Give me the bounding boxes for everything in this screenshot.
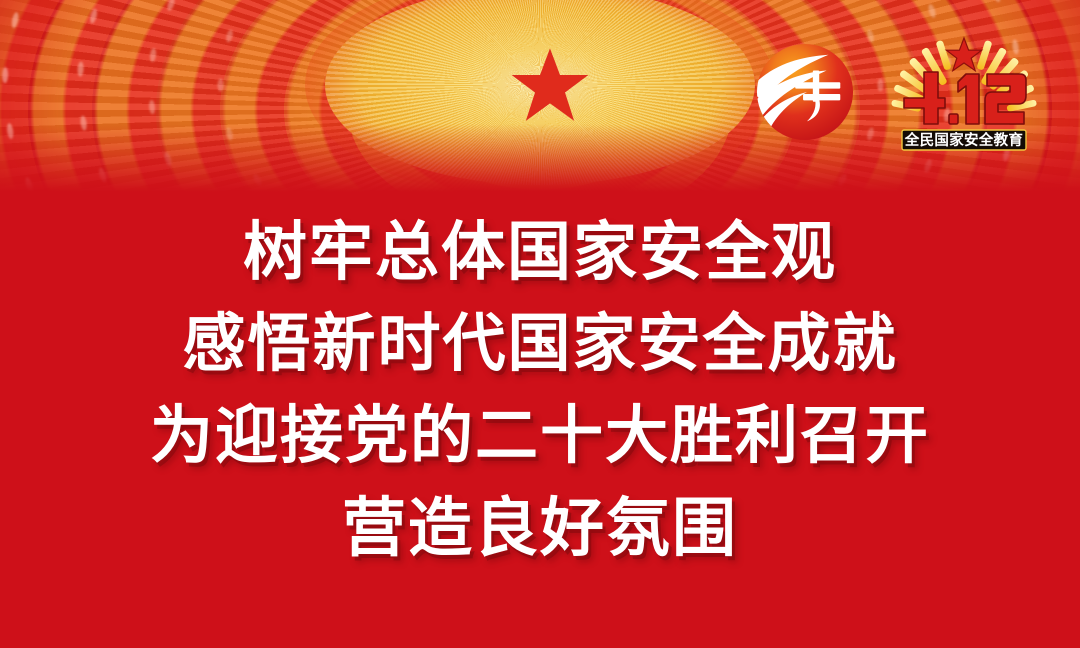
headline-line-4: 营造良好氛围 (0, 482, 1080, 574)
broadcaster-logo (756, 43, 854, 141)
headline-line-1: 树牢总体国家安全观 (0, 206, 1080, 298)
emblem-star-icon (946, 38, 981, 71)
headline-line-2: 感悟新时代国家安全成就 (0, 298, 1080, 390)
headline-block: 树牢总体国家安全观 感悟新时代国家安全成就 为迎接党的二十大胜利召开 营造良好氛… (0, 206, 1080, 574)
headline-line-3: 为迎接党的二十大胜利召开 (0, 390, 1080, 482)
poster-root: 全民国家安全教育 树牢总体国家安全观 感悟新时代国家安全成就 为迎接党的二十大胜… (0, 0, 1080, 648)
emblem-caption-text: 全民国家安全教育 (904, 131, 1023, 149)
emblem-date-text (904, 72, 1026, 124)
education-day-emblem: 全民国家安全教育 (888, 32, 1040, 154)
center-star-icon (508, 45, 592, 125)
